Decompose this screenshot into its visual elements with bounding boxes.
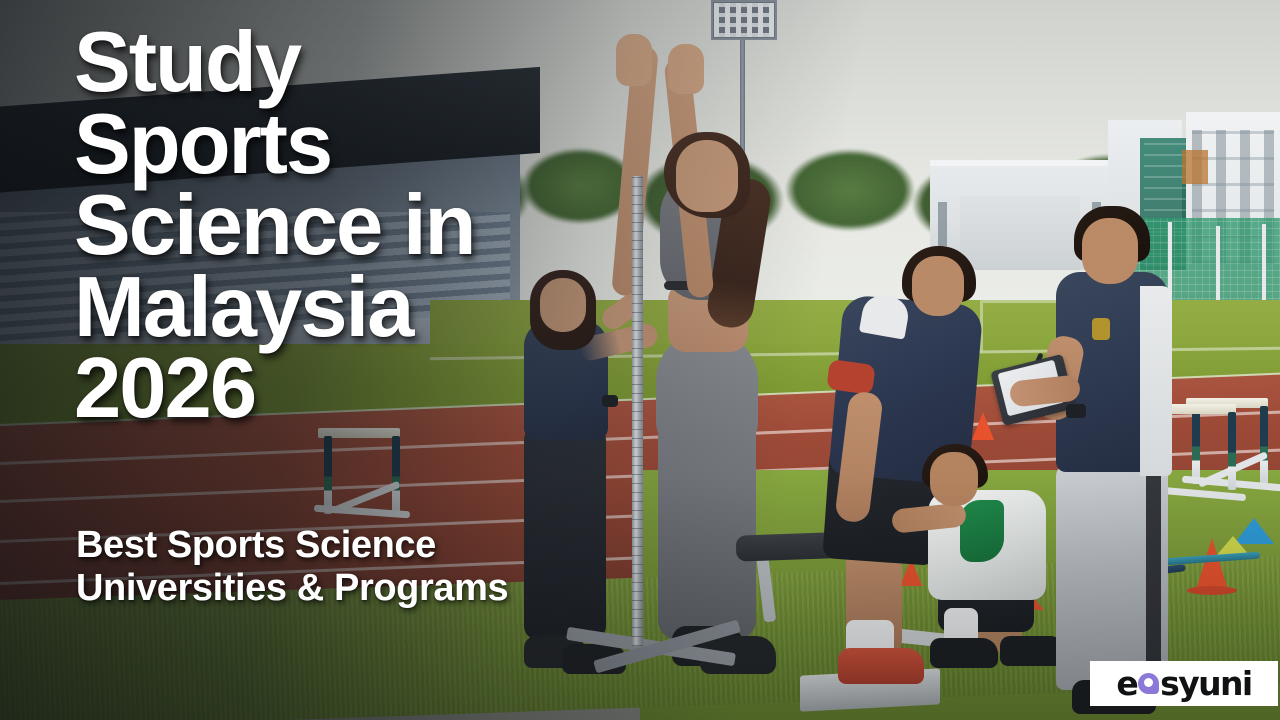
wristwatch (1066, 404, 1086, 418)
team-crest (1092, 318, 1110, 340)
subtitle-line-1: Best Sports Science (76, 524, 636, 567)
banner-image: Study Sports Science in Malaysia 2026 Be… (0, 0, 1280, 720)
training-cone (972, 412, 994, 440)
headline-line-5: 2026 (74, 348, 634, 430)
subtitle-line-2: Universities & Programs (76, 567, 636, 610)
location-pin-icon (1138, 673, 1159, 694)
logo-text-after: syuni (1160, 667, 1251, 700)
logo-text-before: e (1116, 667, 1137, 700)
headline: Study Sports Science in Malaysia 2026 (74, 22, 634, 430)
headline-line-1: Study (74, 22, 634, 104)
headline-line-2: Sports (74, 104, 634, 186)
headline-line-3: Science in (74, 185, 634, 267)
subtitle: Best Sports Science Universities & Progr… (76, 524, 636, 609)
headline-line-4: Malaysia (74, 267, 634, 349)
easyuni-logo[interactable]: e syuni (1090, 661, 1278, 706)
